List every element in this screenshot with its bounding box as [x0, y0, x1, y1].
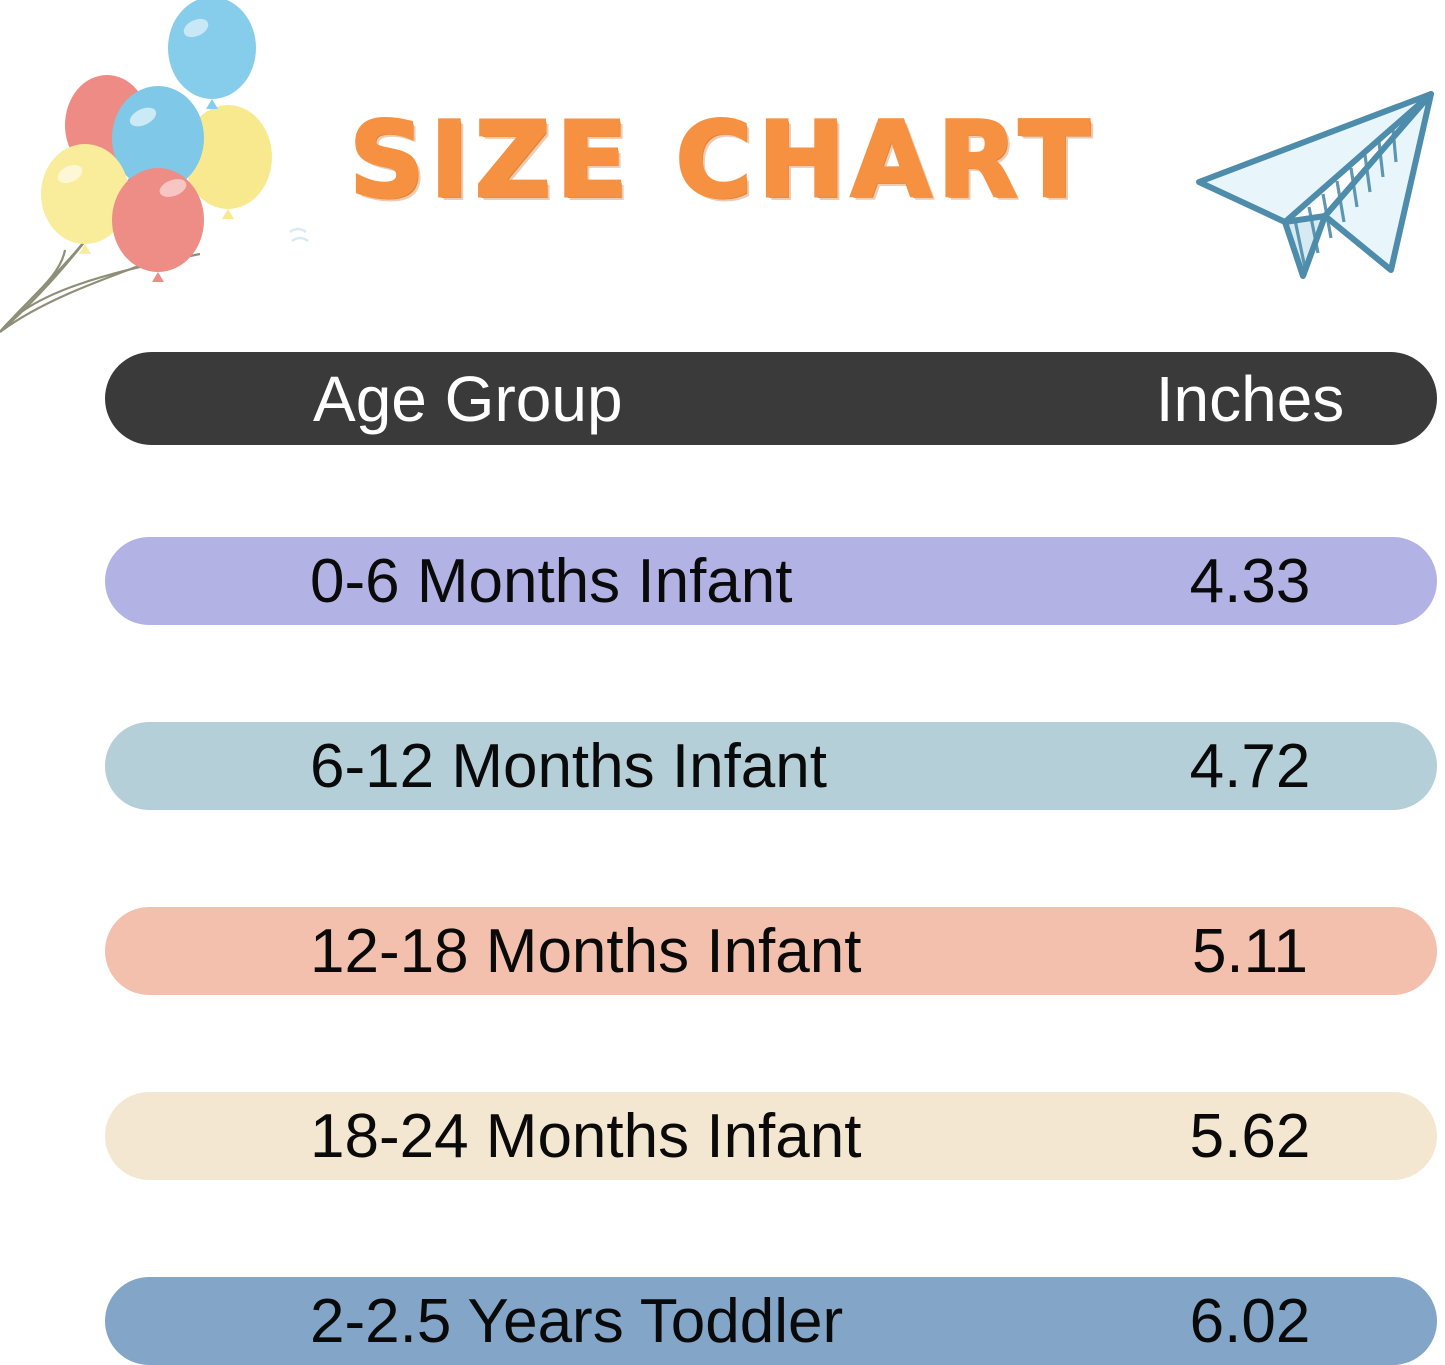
table-row: 0-6 Months Infant 4.33: [105, 537, 1437, 625]
table-row: 18-24 Months Infant 5.62: [105, 1092, 1437, 1180]
table-header-row: Age Group Inches: [105, 352, 1437, 445]
row-inches: 5.11: [1105, 916, 1395, 987]
balloon-blue-top: [168, 0, 256, 109]
row-age-group: 6-12 Months Infant: [310, 731, 827, 802]
row-age-group: 18-24 Months Infant: [310, 1101, 861, 1172]
table-row: 12-18 Months Infant 5.11: [105, 907, 1437, 995]
column-header-inches: Inches: [1105, 362, 1395, 436]
row-inches: 4.72: [1105, 731, 1395, 802]
row-inches: 4.33: [1105, 546, 1395, 617]
row-inches: 5.62: [1105, 1101, 1395, 1172]
row-inches: 6.02: [1105, 1286, 1395, 1357]
size-chart-table: Age Group Inches 0-6 Months Infant 4.33 …: [105, 352, 1437, 1365]
page-title: SIZE CHART: [0, 95, 1445, 225]
table-row: 6-12 Months Infant 4.72: [105, 722, 1437, 810]
table-row: 2-2.5 Years Toddler 6.02: [105, 1277, 1437, 1365]
row-age-group: 12-18 Months Infant: [310, 916, 861, 987]
row-age-group: 2-2.5 Years Toddler: [310, 1286, 843, 1357]
row-age-group: 0-6 Months Infant: [310, 546, 793, 617]
sparkle-icon: [290, 229, 308, 241]
column-header-age-group: Age Group: [313, 362, 623, 436]
